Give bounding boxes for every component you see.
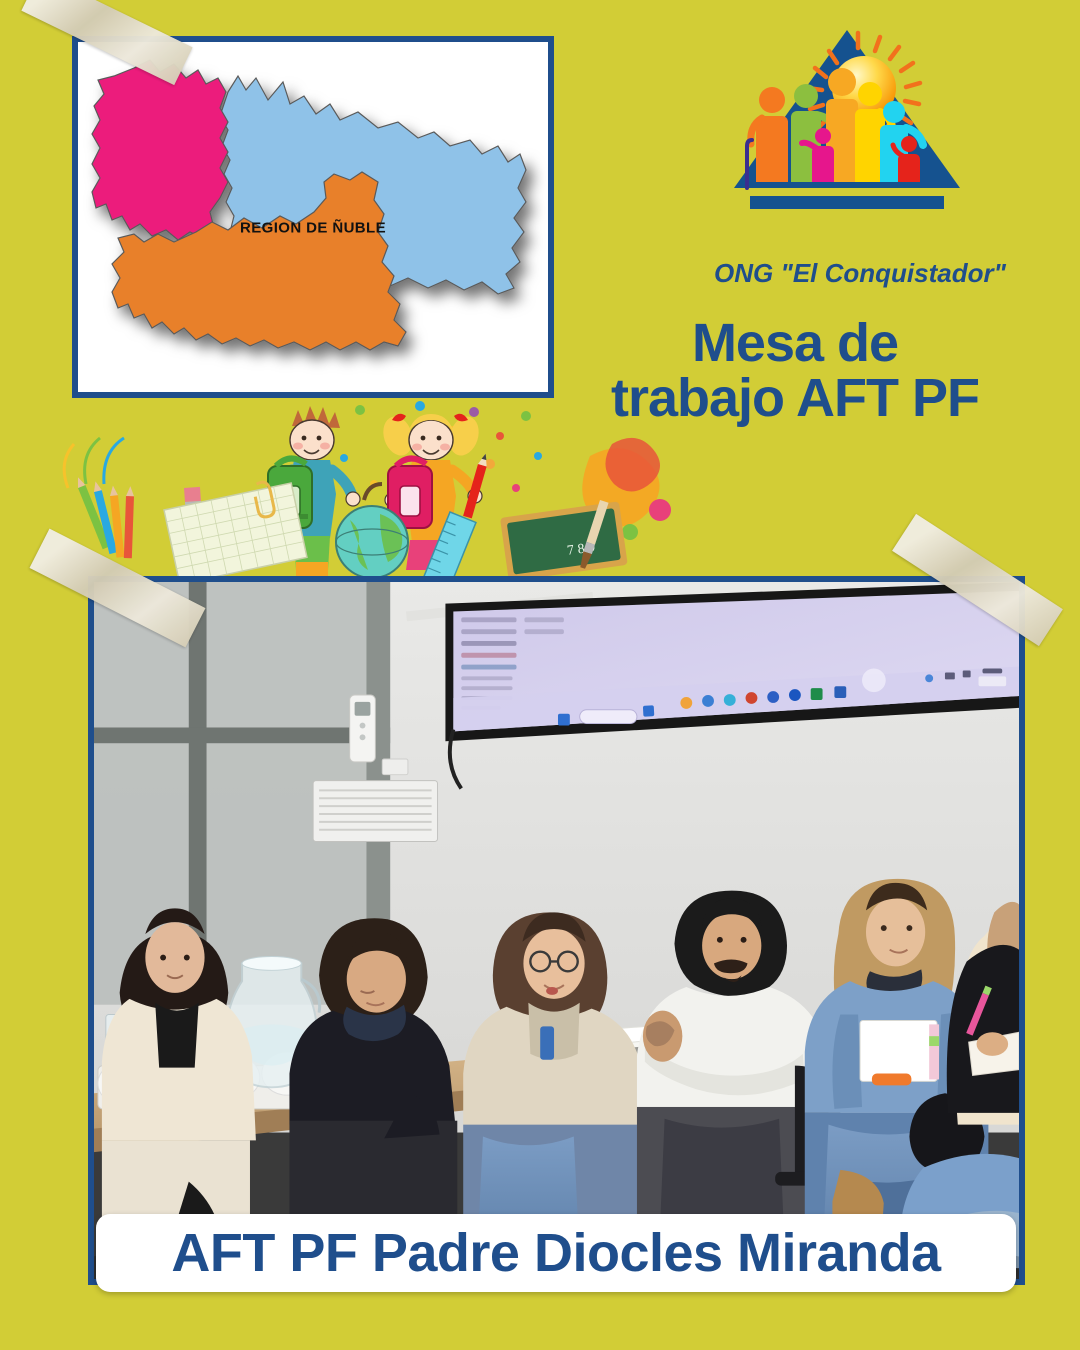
ac-remote-icon	[350, 695, 376, 762]
caption-text: AFT PF Padre Diocles Miranda	[171, 1222, 940, 1284]
caption-bar: AFT PF Padre Diocles Miranda	[96, 1214, 1016, 1292]
colored-pencils	[64, 438, 134, 558]
wall-vent	[313, 781, 437, 842]
meeting-room-scene	[94, 582, 1019, 1279]
nuble-region-map	[78, 42, 548, 392]
logo-mark	[722, 20, 972, 250]
figure-elder-orange	[751, 87, 788, 182]
meeting-room-photo	[94, 582, 1019, 1279]
page-title-line1: Mesa de	[692, 313, 898, 373]
family-figures	[747, 68, 923, 188]
school-clipart-band: 7 8 9	[60, 392, 700, 582]
logo-name-text: ONG "El Conquistador"	[660, 258, 1060, 289]
notebook	[860, 1020, 939, 1081]
chalkboard-icon: 7 8 9	[500, 501, 628, 581]
map-image: REGION DE ÑUBLE	[78, 42, 548, 392]
logo-base-bar	[750, 196, 944, 209]
school-clipart-illustration: 7 8 9	[60, 392, 700, 582]
map-region-label: REGION DE ÑUBLE	[240, 219, 386, 236]
meeting-photo-card	[88, 576, 1025, 1285]
grid-paper	[163, 476, 307, 582]
organization-logo: ONG "El Conquistador"	[660, 20, 1060, 300]
map-card: REGION DE ÑUBLE	[72, 36, 554, 398]
map-region-pink	[92, 60, 228, 240]
